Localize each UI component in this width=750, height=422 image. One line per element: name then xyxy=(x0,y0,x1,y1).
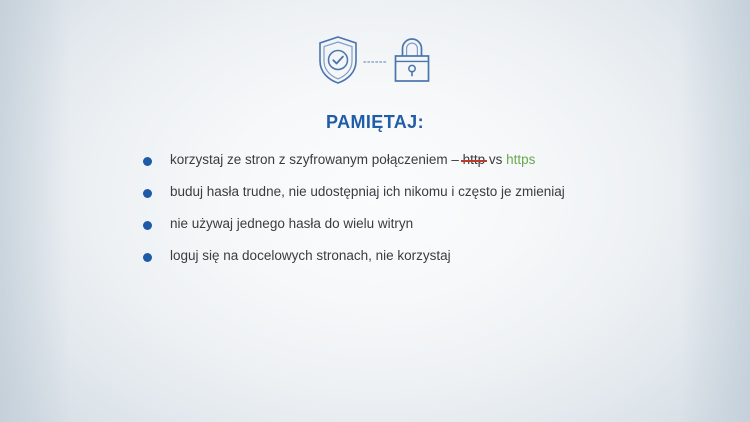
bullet-dot-icon xyxy=(143,157,152,166)
bullet-dot-icon xyxy=(143,189,152,198)
bullet-1-prefix: korzystaj ze stron z szyfrowanym połącze… xyxy=(170,152,463,167)
icon-row xyxy=(0,32,750,92)
bullet-dot-icon xyxy=(143,221,152,230)
shield-check-icon xyxy=(315,34,361,91)
list-item: nie używaj jednego hasła do wielu witryn xyxy=(143,215,703,247)
padlock-icon xyxy=(389,34,435,91)
list-item: korzystaj ze stron z szyfrowanym połącze… xyxy=(143,151,703,183)
list-item-label: buduj hasła trudne, nie udostępniaj ich … xyxy=(170,183,565,201)
bullet-list: korzystaj ze stron z szyfrowanym połącze… xyxy=(143,151,703,279)
list-item-label: korzystaj ze stron z szyfrowanym połącze… xyxy=(170,151,535,169)
bullet-dot-icon xyxy=(143,253,152,262)
list-item: buduj hasła trudne, nie udostępniaj ich … xyxy=(143,183,703,215)
https-highlight: https xyxy=(506,152,535,167)
list-item-label: loguj się na docelowych stronach, nie ko… xyxy=(170,247,451,265)
list-item: loguj się na docelowych stronach, nie ko… xyxy=(143,247,703,279)
bullet-1-middle: vs xyxy=(485,152,506,167)
page-title: PAMIĘTAJ: xyxy=(0,112,750,133)
http-strikethrough: http xyxy=(463,151,486,169)
slide-canvas: PAMIĘTAJ: korzystaj ze stron z szyfrowan… xyxy=(0,0,750,422)
dotted-connector-icon xyxy=(361,32,389,92)
list-item-label: nie używaj jednego hasła do wielu witryn xyxy=(170,215,413,233)
